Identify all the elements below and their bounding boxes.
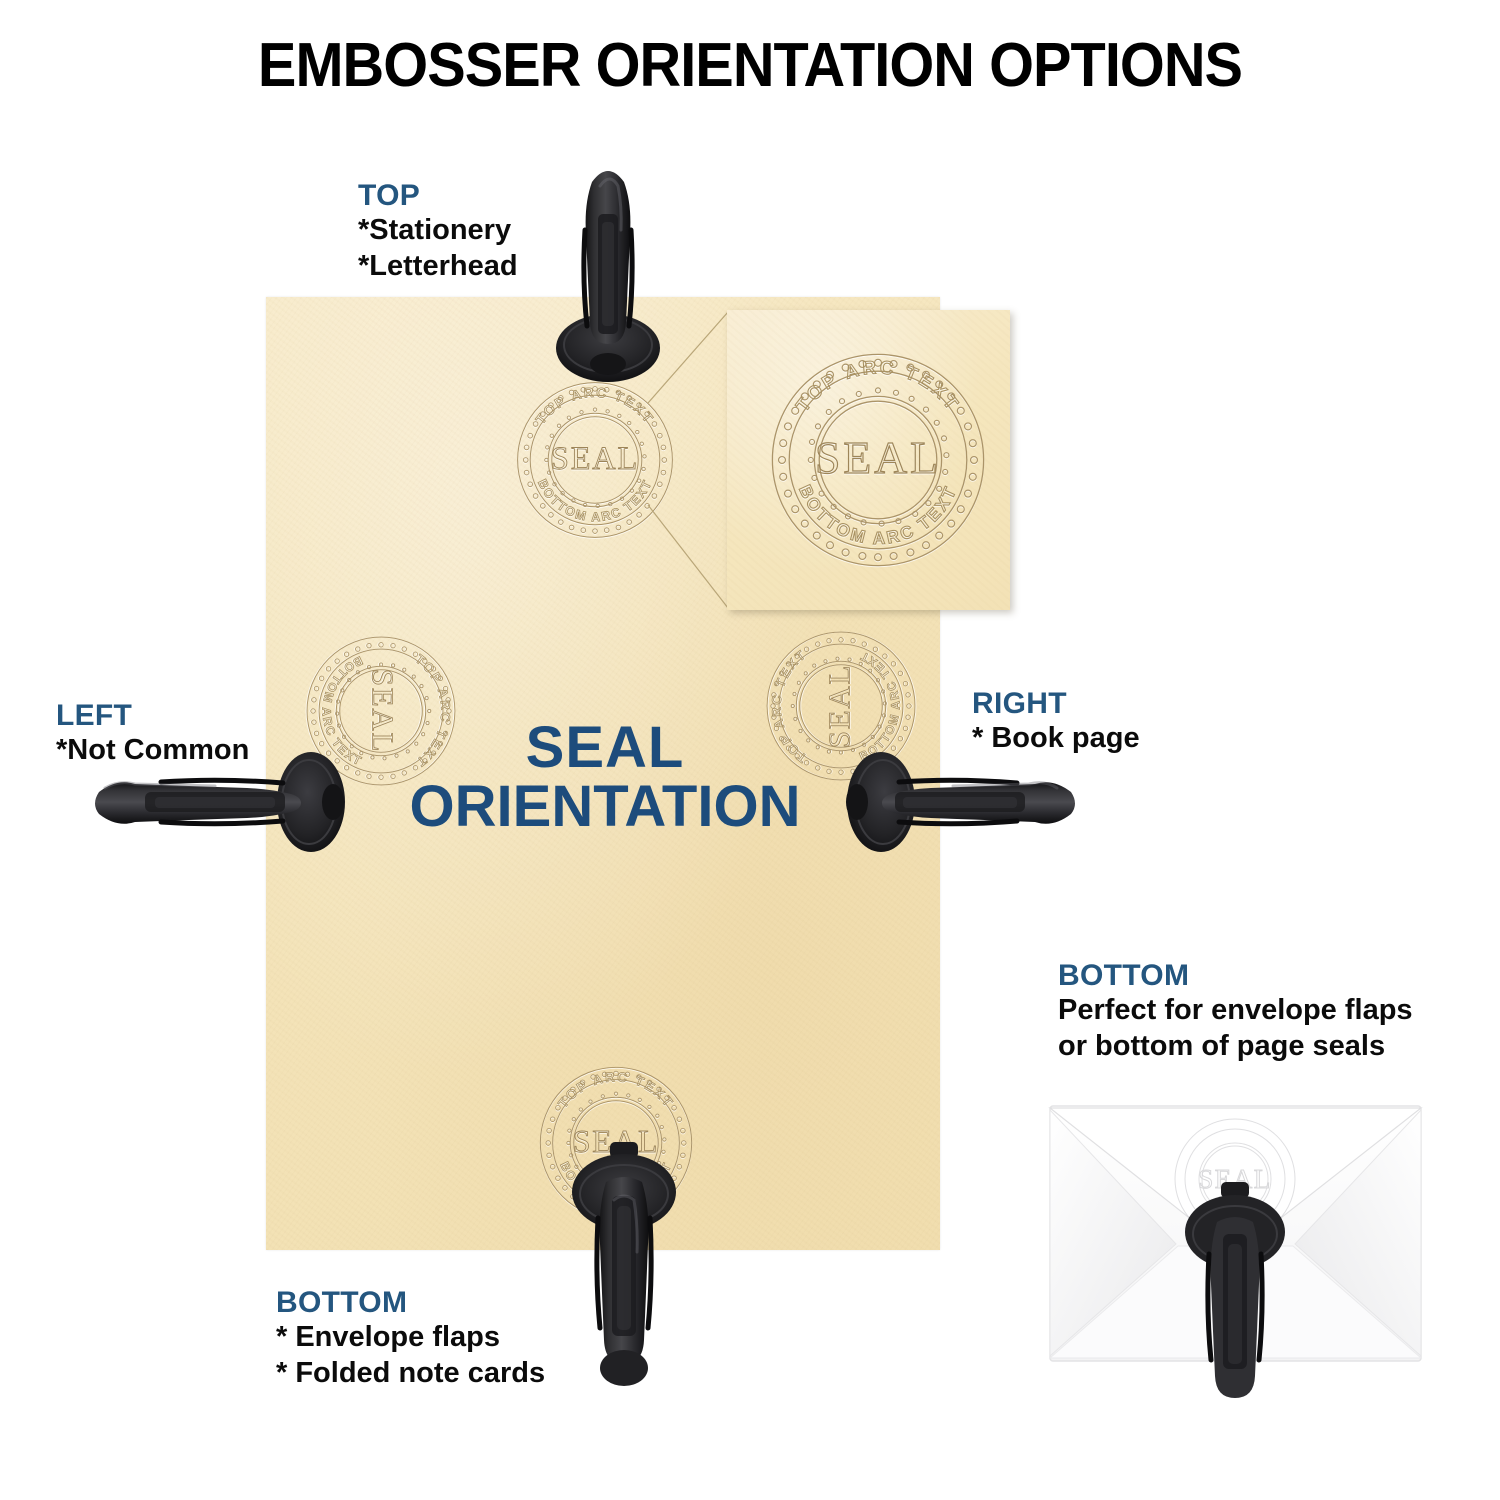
label-left: LEFT *Not Common	[56, 698, 249, 769]
envelope-illustration: SEAL	[1048, 1104, 1423, 1371]
label-right-heading: RIGHT	[972, 686, 1140, 721]
label-bottom-right-line-2: or bottom of page seals	[1058, 1029, 1413, 1065]
label-top-heading: TOP	[358, 178, 518, 213]
label-bottom-left-heading: BOTTOM	[276, 1285, 545, 1320]
label-bottom-left-line-1: * Envelope flaps	[276, 1320, 545, 1356]
label-top-line-2: *Letterhead	[358, 249, 518, 285]
label-bottom-left: BOTTOM * Envelope flaps * Folded note ca…	[276, 1285, 545, 1392]
callout-bottom-arc-text: BOTTOM ARC TEXT	[795, 482, 961, 549]
page-title: EMBOSSER ORIENTATION OPTIONS	[53, 30, 1448, 101]
infographic-canvas: EMBOSSER ORIENTATION OPTIONS	[0, 0, 1500, 1500]
label-bottom-right-heading: BOTTOM	[1058, 958, 1413, 993]
label-bottom-right-line-1: Perfect for envelope flaps	[1058, 993, 1413, 1029]
svg-text:BOTTOM ARC TEXT: BOTTOM ARC TEXT	[795, 482, 961, 549]
label-right-line-1: * Book page	[972, 721, 1140, 757]
callout-seal-impression: TOP ARC TEXT BOTTOM ARC TEXT SEAL	[758, 340, 998, 580]
callout-center-text: SEAL	[815, 432, 941, 483]
label-top-line-1: *Stationery	[358, 213, 518, 249]
label-bottom-right: BOTTOM Perfect for envelope flaps or bot…	[1058, 958, 1413, 1065]
label-left-line-1: *Not Common	[56, 733, 249, 769]
magnified-seal-callout: TOP ARC TEXT BOTTOM ARC TEXT SEAL	[727, 310, 1010, 610]
svg-text:TOP ARC TEXT: TOP ARC TEXT	[792, 356, 965, 415]
label-top: TOP *Stationery *Letterhead	[358, 178, 518, 285]
label-bottom-left-line-2: * Folded note cards	[276, 1356, 545, 1392]
label-right: RIGHT * Book page	[972, 686, 1140, 757]
callout-top-arc-text: TOP ARC TEXT	[792, 356, 965, 415]
label-left-heading: LEFT	[56, 698, 249, 733]
